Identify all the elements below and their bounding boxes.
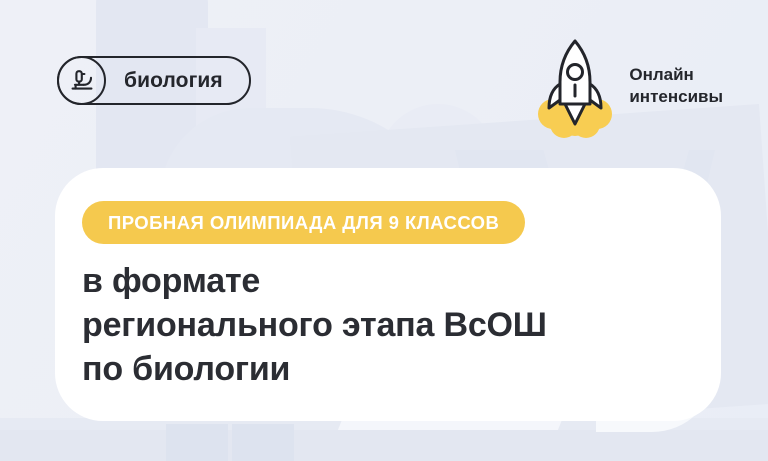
subject-badge-label: биология: [124, 69, 223, 93]
brand-name: Онлайн интенсивы: [629, 64, 723, 108]
brand-line-1: Онлайн: [629, 65, 693, 84]
brand-line-2: интенсивы: [629, 87, 723, 106]
watermark-foot-left: [166, 424, 228, 461]
headline-line-2: регионального этапа ВсОШ: [82, 304, 702, 348]
promo-badge[interactable]: ПРОБНАЯ ОЛИМПИАДА ДЛЯ 9 КЛАССОВ: [82, 201, 525, 244]
promo-badge-label: ПРОБНАЯ ОЛИМПИАДА ДЛЯ 9 КЛАССОВ: [108, 212, 499, 234]
content-card: ПРОБНАЯ ОЛИМПИАДА ДЛЯ 9 КЛАССОВ в формат…: [55, 168, 721, 421]
brand-logo[interactable]: Онлайн интенсивы: [537, 34, 723, 138]
promo-banner: биология: [0, 0, 768, 461]
watermark-foot-right: [232, 424, 294, 461]
watermark-band-dark: [0, 430, 768, 461]
headline-line-3: по биологии: [82, 348, 702, 392]
watermark-band: [0, 418, 768, 461]
microscope-icon: [57, 56, 106, 105]
banner-header: биология: [0, 0, 768, 160]
headline-line-1: в формате: [82, 260, 702, 304]
rocket-icon: [537, 34, 613, 138]
subject-badge[interactable]: биология: [57, 56, 251, 105]
headline: в формате регионального этапа ВсОШ по би…: [82, 260, 702, 392]
